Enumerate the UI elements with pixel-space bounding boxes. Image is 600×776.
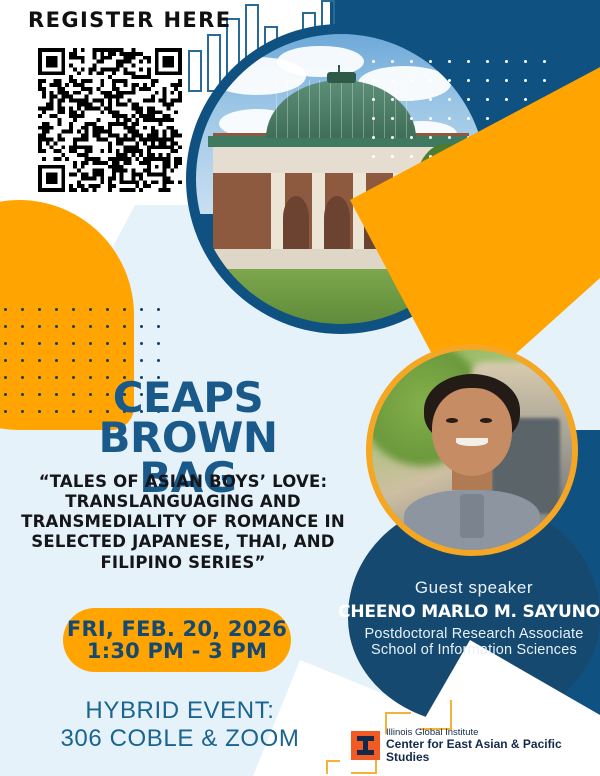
decorative-dot [4,342,7,345]
illinois-block-i-icon [351,731,380,760]
decorative-dot [55,325,58,328]
decorative-dot [505,98,508,101]
bracket-decoration [420,700,452,730]
decorative-dot [21,410,24,413]
decorative-dot [38,410,41,413]
decorative-dot [4,376,7,379]
decorative-dot [4,410,7,413]
decorative-dot [467,98,470,101]
decorative-dot [467,79,470,82]
decorative-dot [524,60,527,63]
decorative-dot [89,308,92,311]
decorative-dot [372,98,375,101]
decorative-dot [486,79,489,82]
decorative-dot [140,342,143,345]
decorative-dot [429,136,432,139]
decorative-dot [123,308,126,311]
dome-rib [363,80,364,138]
decorative-dot [106,308,109,311]
portrait-eye [480,418,492,423]
decorative-dot [72,325,75,328]
decorative-dot [448,79,451,82]
decorative-dot [157,308,160,311]
decorative-dot [55,342,58,345]
event-date: FRI, FEB. 20, 2026 [67,618,287,640]
decorative-dot [448,136,451,139]
decorative-dot [21,376,24,379]
decorative-dot [391,79,394,82]
dome-rib [384,80,385,138]
decorative-dot [123,359,126,362]
decorative-dot [21,393,24,396]
decorative-dot [4,308,7,311]
dome-rib [395,80,396,138]
register-heading: REGISTER HERE [28,8,231,32]
ceaps-logo: Illinois Global Institute Center for Eas… [351,728,600,763]
decorative-dot [157,342,160,345]
decorative-dot [543,60,546,63]
decorative-dot [157,325,160,328]
decorative-dot [106,359,109,362]
decorative-dot [467,117,470,120]
event-flyer: REGISTER HERE CEAPS BROWN BAG “TALES OF … [0,0,600,776]
talk-subtitle: “TALES OF ASIAN BOYS’ LOVE: TRANSLANGUAG… [18,472,348,573]
decorative-dot [372,117,375,120]
decorative-dot [429,117,432,120]
decorative-dot [123,342,126,345]
speaker-portrait [366,344,578,556]
decorative-dot [38,342,41,345]
decorative-dot [372,60,375,63]
decorative-dot [429,60,432,63]
dome-rib [276,80,277,138]
guest-speaker-label: Guest speaker [348,578,600,598]
decorative-dot [429,98,432,101]
portrait-eye [446,418,458,423]
decorative-dot [55,359,58,362]
decorative-dot [38,359,41,362]
decorative-dot [448,60,451,63]
decorative-dot [89,342,92,345]
decorative-dot [21,325,24,328]
portrait-collar [460,494,484,538]
decorative-dot [38,308,41,311]
decorative-dot [391,60,394,63]
speaker-name: CHEENO MARLO M. SAYUNO [338,602,600,622]
event-time: 1:30 PM - 3 PM [87,640,267,662]
decorative-dot [123,325,126,328]
decorative-dot [38,325,41,328]
registration-qr-code[interactable] [38,48,182,192]
decorative-dot [505,60,508,63]
decorative-dot [21,342,24,345]
entrance-arch [324,196,350,248]
decorative-dot [157,359,160,362]
date-time-badge: FRI, FEB. 20, 2026 1:30 PM - 3 PM [63,608,291,672]
decorative-dot [410,136,413,139]
dome-rib [309,80,310,138]
decorative-dot [89,359,92,362]
speaker-affiliation: Postdoctoral Research Associate School o… [358,626,590,658]
decorative-dot [448,117,451,120]
decorative-dot [448,98,451,101]
logo-center: Center for East Asian & Pacific Studies [386,738,600,763]
decorative-dot [140,308,143,311]
decorative-dot [4,325,7,328]
bracket-decoration [326,760,340,774]
decorative-dot [391,136,394,139]
decorative-dot [429,79,432,82]
decorative-dot [55,308,58,311]
decorative-dot [410,60,413,63]
decorative-dot [21,359,24,362]
decorative-dot [467,60,470,63]
decorative-dot [140,359,143,362]
dome-rib [330,80,331,138]
venue-info: HYBRID EVENT: 306 COBLE & ZOOM [20,697,340,754]
logo-text: Illinois Global Institute Center for Eas… [386,728,600,763]
dome-rib [298,80,299,138]
dome-rib [287,80,288,138]
portrait-face [432,388,512,476]
decorative-dot [38,376,41,379]
dome-cap [327,72,356,84]
decorative-dot [410,79,413,82]
decorative-dot [372,155,375,158]
decorative-dot [72,342,75,345]
decorative-dot [410,98,413,101]
decorative-dot [486,98,489,101]
decorative-dot [89,325,92,328]
qr-canvas[interactable] [38,48,182,192]
decorative-dot [106,342,109,345]
decorative-dot [372,136,375,139]
decorative-dot [505,79,508,82]
decorative-dot [391,98,394,101]
dome-rib [319,80,320,138]
decorative-dot [391,155,394,158]
decorative-dot [486,117,489,120]
decorative-dot [486,60,489,63]
venue-line-1: HYBRID EVENT: [20,697,340,725]
entrance-arch [283,196,309,248]
portrait-smile [456,438,488,446]
decorative-dot [391,117,394,120]
venue-line-2: 306 COBLE & ZOOM [20,725,340,753]
decorative-dot [524,79,527,82]
decorative-dot [410,155,413,158]
dome-rib [341,80,342,138]
dome-rib [352,80,353,138]
dome-rib [373,80,374,138]
dome-rib [406,80,407,138]
decorative-dot [140,325,143,328]
decorative-dot [543,79,546,82]
decorative-dot [524,98,527,101]
decorative-dot [372,79,375,82]
decorative-dot [410,117,413,120]
decorative-dot [106,325,109,328]
decorative-dot [72,359,75,362]
decorative-dot [38,393,41,396]
decorative-dot [4,393,7,396]
decorative-dot [4,359,7,362]
decorative-dot [72,308,75,311]
finial [338,65,340,75]
decorative-dot [21,308,24,311]
